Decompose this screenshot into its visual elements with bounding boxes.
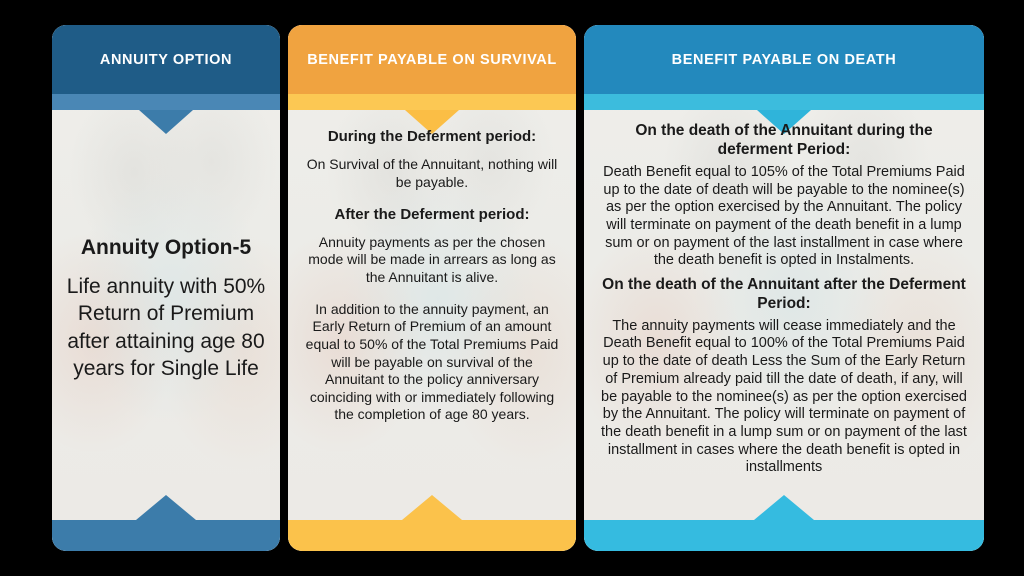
annuity-option-column: ANNUITY OPTION Annuity Option-5 Life ann… — [52, 25, 280, 551]
annuity-option-description: Life annuity with 50% Return of Premium … — [66, 273, 266, 382]
annuity-option-body: Annuity Option-5 Life annuity with 50% R… — [52, 110, 280, 520]
benefit-survival-header: BENEFIT PAYABLE ON SURVIVAL — [288, 25, 576, 94]
benefit-death-footer — [584, 520, 984, 551]
death-block-heading: On the death of the Annuitant during the… — [598, 122, 970, 160]
benefit-death-header-strip — [584, 94, 984, 110]
benefit-death-body: On the death of the Annuitant during the… — [584, 110, 984, 520]
death-block: On the death of the Annuitant after the … — [598, 276, 970, 477]
benefit-death-header: BENEFIT PAYABLE ON DEATH — [584, 25, 984, 94]
survival-block-body: In addition to the annuity payment, an E… — [302, 301, 562, 424]
survival-block: In addition to the annuity payment, an E… — [302, 301, 562, 424]
survival-block-heading: After the Deferment period: — [302, 206, 562, 224]
survival-block-body: On Survival of the Annuitant, nothing wi… — [302, 156, 562, 191]
death-block-body: Death Benefit equal to 105% of the Total… — [598, 164, 970, 270]
benefit-survival-body: During the Deferment period: On Survival… — [288, 110, 576, 520]
up-triangle-icon — [402, 495, 462, 520]
benefit-survival-column: BENEFIT PAYABLE ON SURVIVAL During the D… — [288, 25, 576, 551]
annuity-option-footer — [52, 520, 280, 551]
survival-block-heading: During the Deferment period: — [302, 128, 562, 146]
survival-block: After the Deferment period: Annuity paym… — [302, 206, 562, 287]
up-triangle-icon — [754, 495, 814, 520]
annuity-option-header: ANNUITY OPTION — [52, 25, 280, 94]
infographic-canvas: ANNUITY OPTION Annuity Option-5 Life ann… — [0, 0, 1024, 576]
death-block-body: The annuity payments will cease immediat… — [598, 318, 970, 477]
annuity-option-header-strip — [52, 94, 280, 110]
death-block: On the death of the Annuitant during the… — [598, 122, 970, 270]
annuity-option-title: Annuity Option-5 — [66, 236, 266, 260]
benefit-survival-footer — [288, 520, 576, 551]
survival-block: During the Deferment period: On Survival… — [302, 128, 562, 192]
benefit-death-column: BENEFIT PAYABLE ON DEATH On the death of… — [584, 25, 984, 551]
survival-block-body: Annuity payments as per the chosen mode … — [302, 234, 562, 287]
benefit-survival-header-strip — [288, 94, 576, 110]
up-triangle-icon — [136, 495, 196, 520]
death-block-heading: On the death of the Annuitant after the … — [598, 276, 970, 314]
